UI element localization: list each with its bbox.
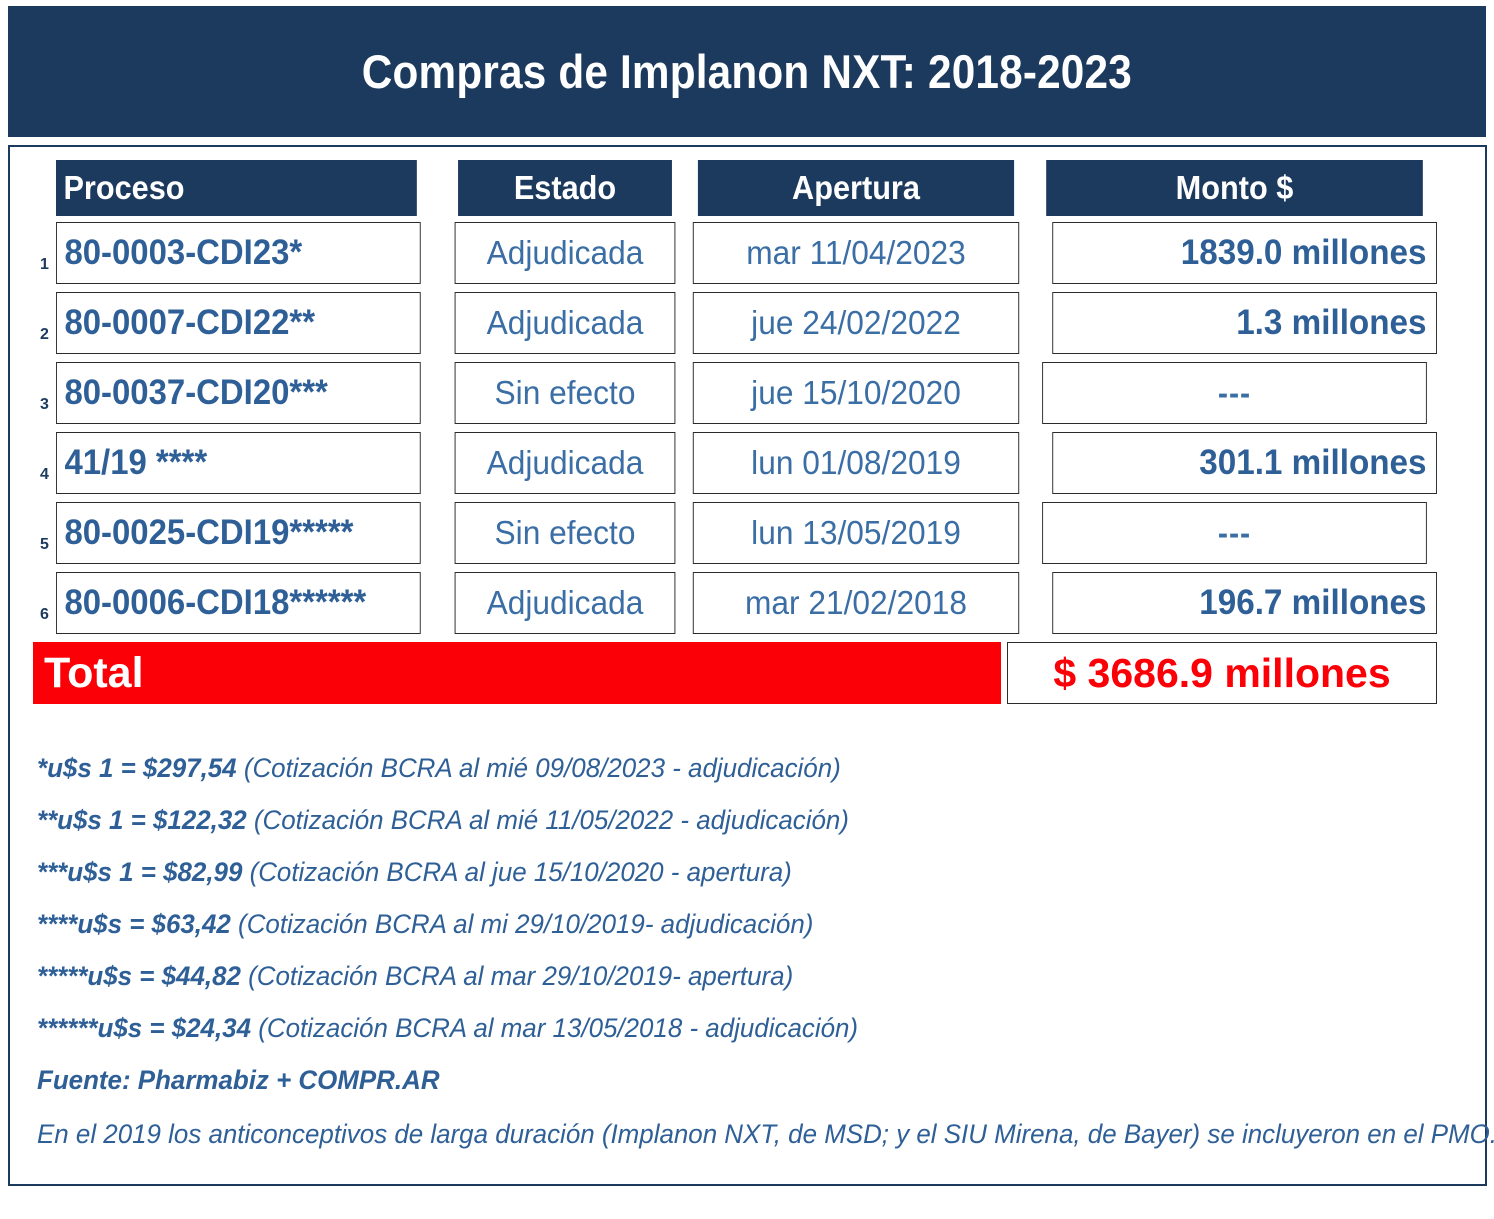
total-label: Total [33, 642, 1001, 704]
row-number: 2 [33, 292, 56, 354]
footnote-detail: (Cotización BCRA al mar 13/05/2018 - adj… [258, 1013, 858, 1043]
row-number-gutter [33, 160, 56, 216]
closing-note: En el 2019 los anticonceptivos de larga … [37, 1121, 1400, 1148]
table-row: 1 80-0003-CDI23* Adjudicada mar 11/04/20… [33, 222, 1437, 284]
cell-monto: --- [1042, 502, 1427, 564]
footnote-rate: *u$s 1 = $297,54 [37, 753, 237, 783]
table-row: 5 80-0025-CDI19***** Sin efecto lun 13/0… [33, 502, 1437, 564]
cell-estado: Adjudicada [455, 432, 676, 494]
source-line: Fuente: Pharmabiz + COMPR.AR [37, 1067, 1400, 1094]
cell-monto: 196.7 millones [1052, 572, 1437, 634]
table-total-row: Total $ 3686.9 millones [33, 642, 1437, 704]
cell-monto: 1.3 millones [1052, 292, 1437, 354]
row-number: 6 [33, 572, 56, 634]
purchases-table: Proceso Estado Apertura Monto $ 1 80-000… [33, 160, 1437, 704]
column-header-estado: Estado [458, 160, 672, 216]
cell-apertura: mar 21/02/2018 [693, 572, 1019, 634]
infographic-page: Compras de Implanon NXT: 2018-2023 Proce… [0, 0, 1494, 1219]
cell-estado: Sin efecto [455, 502, 676, 564]
cell-apertura: mar 11/04/2023 [693, 222, 1019, 284]
cell-monto: 1839.0 millones [1052, 222, 1437, 284]
total-value: $ 3686.9 millones [1007, 642, 1437, 704]
table-row: 2 80-0007-CDI22** Adjudicada jue 24/02/2… [33, 292, 1437, 354]
footnote-2: **u$s 1 = $122,32 (Cotización BCRA al mi… [37, 807, 1400, 834]
cell-proceso: 41/19 **** [56, 432, 421, 494]
title-banner: Compras de Implanon NXT: 2018-2023 [8, 6, 1486, 137]
cell-estado: Adjudicada [455, 222, 676, 284]
cell-proceso: 80-0007-CDI22** [56, 292, 421, 354]
row-number: 4 [33, 432, 56, 494]
table-row: 3 80-0037-CDI20*** Sin efecto jue 15/10/… [33, 362, 1437, 424]
row-number: 3 [33, 362, 56, 424]
footnote-1: *u$s 1 = $297,54 (Cotización BCRA al mié… [37, 755, 1400, 782]
cell-proceso: 80-0003-CDI23* [56, 222, 421, 284]
cell-apertura: lun 13/05/2019 [693, 502, 1019, 564]
footnote-rate: *****u$s = $44,82 [37, 961, 241, 991]
row-number: 5 [33, 502, 56, 564]
cell-apertura: lun 01/08/2019 [693, 432, 1019, 494]
cell-estado: Adjudicada [455, 572, 676, 634]
cell-proceso: 80-0025-CDI19***** [56, 502, 421, 564]
footnote-3: ***u$s 1 = $82,99 (Cotización BCRA al ju… [37, 859, 1400, 886]
footnote-rate: ***u$s 1 = $82,99 [37, 857, 242, 887]
column-header-proceso: Proceso [56, 160, 417, 216]
footnote-rate: ****u$s = $63,42 [37, 909, 231, 939]
column-header-monto: Monto $ [1046, 160, 1423, 216]
row-number: 1 [33, 222, 56, 284]
cell-monto: 301.1 millones [1052, 432, 1437, 494]
table-header-row: Proceso Estado Apertura Monto $ [33, 160, 1437, 216]
column-header-apertura: Apertura [698, 160, 1014, 216]
footnote-detail: (Cotización BCRA al jue 15/10/2020 - ape… [250, 857, 792, 887]
footnote-4: ****u$s = $63,42 (Cotización BCRA al mi … [37, 911, 1400, 938]
footnotes: *u$s 1 = $297,54 (Cotización BCRA al mié… [37, 755, 1457, 1148]
footnote-6: ******u$s = $24,34 (Cotización BCRA al m… [37, 1015, 1400, 1042]
footnote-detail: (Cotización BCRA al mar 29/10/2019- aper… [248, 961, 793, 991]
cell-proceso: 80-0037-CDI20*** [56, 362, 421, 424]
cell-proceso: 80-0006-CDI18****** [56, 572, 421, 634]
footnote-detail: (Cotización BCRA al mié 11/05/2022 - adj… [254, 805, 849, 835]
footnote-detail: (Cotización BCRA al mié 09/08/2023 - adj… [244, 753, 841, 783]
footnote-detail: (Cotización BCRA al mi 29/10/2019- adjud… [238, 909, 813, 939]
table-row: 6 80-0006-CDI18****** Adjudicada mar 21/… [33, 572, 1437, 634]
footnote-rate: ******u$s = $24,34 [37, 1013, 251, 1043]
table-row: 4 41/19 **** Adjudicada lun 01/08/2019 3… [33, 432, 1437, 494]
cell-apertura: jue 15/10/2020 [693, 362, 1019, 424]
cell-estado: Adjudicada [455, 292, 676, 354]
cell-monto: --- [1042, 362, 1427, 424]
cell-estado: Sin efecto [455, 362, 676, 424]
page-title: Compras de Implanon NXT: 2018-2023 [362, 44, 1132, 99]
footnote-rate: **u$s 1 = $122,32 [37, 805, 247, 835]
footnote-5: *****u$s = $44,82 (Cotización BCRA al ma… [37, 963, 1400, 990]
cell-apertura: jue 24/02/2022 [693, 292, 1019, 354]
